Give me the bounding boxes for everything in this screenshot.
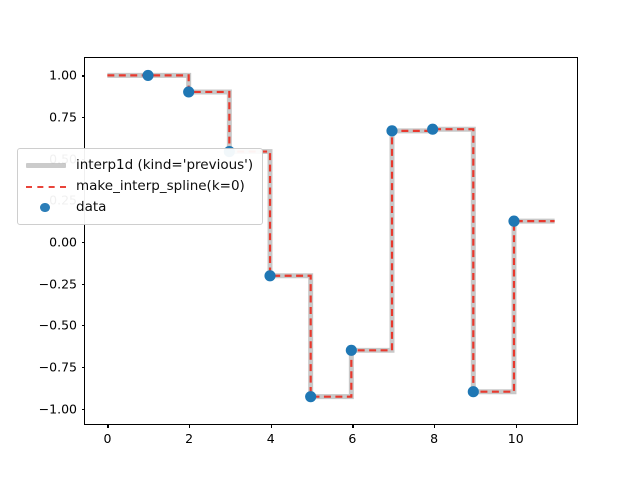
- legend-entry-interp1d: interp1d (kind='previous'): [26, 155, 253, 176]
- x-tick-label: 8: [430, 431, 438, 446]
- legend-label-interp1d: interp1d (kind='previous'): [76, 159, 253, 173]
- y-tick-mark: [82, 284, 86, 285]
- legend-entry-data: data: [26, 197, 253, 218]
- legend-label-data: data: [76, 201, 106, 215]
- legend-label-make-interp-spline: make_interp_spline(k=0): [76, 180, 245, 194]
- y-tick-mark: [82, 75, 86, 76]
- y-tick-label: −0.75: [39, 359, 77, 374]
- y-tick-mark: [82, 325, 86, 326]
- x-tick-label: 10: [508, 431, 524, 446]
- x-tick-mark: [516, 424, 517, 428]
- x-tick-label: 4: [267, 431, 275, 446]
- x-tick-mark: [189, 424, 190, 428]
- x-tick-mark: [352, 424, 353, 428]
- y-tick-mark: [82, 242, 86, 243]
- matplotlib-figure: −1.00−0.75−0.50−0.250.000.250.500.751.00…: [0, 0, 640, 480]
- data-point: [468, 386, 479, 397]
- y-tick-label: 0.00: [49, 235, 77, 250]
- data-point: [427, 124, 438, 135]
- data-point: [386, 125, 397, 136]
- x-tick-mark: [107, 424, 108, 428]
- x-tick-mark: [434, 424, 435, 428]
- data-point: [142, 70, 153, 81]
- legend-key-dashed-line: [26, 179, 66, 195]
- step-previous-gray-line: [107, 75, 554, 396]
- legend-key-solid-line: [26, 158, 66, 174]
- plot-axes: −1.00−0.75−0.50−0.250.000.250.500.751.00…: [84, 57, 578, 425]
- spline-k0-red-dashed-line: [107, 75, 554, 396]
- y-tick-mark: [82, 117, 86, 118]
- legend-key-marker: [26, 200, 66, 216]
- data-point: [508, 216, 519, 227]
- y-tick-label: −0.50: [39, 318, 77, 333]
- x-tick-label: 2: [185, 431, 193, 446]
- chart-legend: interp1d (kind='previous') make_interp_s…: [17, 148, 263, 225]
- x-tick-label: 0: [103, 431, 111, 446]
- y-tick-mark: [82, 367, 86, 368]
- data-point: [264, 270, 275, 281]
- legend-entry-make-interp-spline: make_interp_spline(k=0): [26, 176, 253, 197]
- data-point: [305, 391, 316, 402]
- y-tick-label: 1.00: [49, 68, 77, 83]
- y-tick-label: −1.00: [39, 401, 77, 416]
- y-tick-mark: [82, 409, 86, 410]
- y-tick-label: −0.25: [39, 276, 77, 291]
- data-point-markers: [142, 70, 519, 402]
- plot-canvas: [85, 58, 577, 424]
- x-tick-mark: [271, 424, 272, 428]
- x-tick-label: 6: [348, 431, 356, 446]
- data-point: [346, 345, 357, 356]
- y-tick-label: 0.75: [49, 110, 77, 125]
- data-point: [183, 86, 194, 97]
